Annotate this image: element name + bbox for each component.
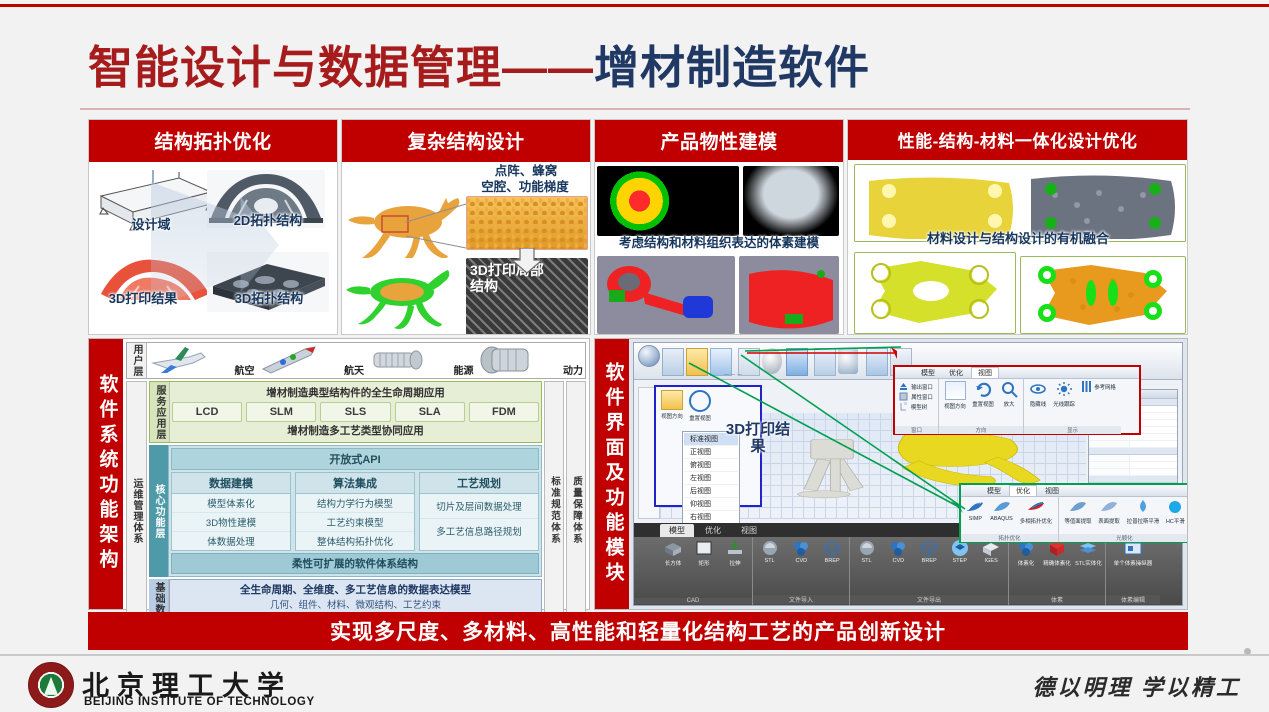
top-accent-rule — [0, 4, 1269, 7]
item-label: 表面提取 — [1098, 516, 1120, 524]
voxel-dragon-image — [597, 166, 739, 236]
tool-export-brep[interactable]: BREP — [916, 539, 942, 564]
tool-exact-voxelize[interactable]: 精确体素化 — [1044, 539, 1070, 567]
tool-label: BREP — [921, 558, 936, 564]
tool-label: BREP — [824, 558, 839, 564]
group-direction: 视图方向 重置视图 放大 方向 — [939, 379, 1024, 434]
reset-view-label: 重置视图 — [689, 413, 711, 421]
page-title-red: 智能设计与数据管理—— — [88, 31, 594, 96]
column-item: 体数据处理 — [172, 532, 290, 550]
group-topology-optimization: SIMP ABAQUS 多相拓扑优化 拓扑优化 — [961, 497, 1059, 542]
ribbon-icon[interactable] — [838, 348, 858, 374]
title-divider — [80, 108, 1190, 110]
tool-extrude[interactable]: 拉伸 — [722, 539, 748, 567]
ribbon-icon[interactable] — [814, 348, 836, 376]
item-label: 多相拓扑优化 — [1020, 516, 1052, 524]
tab-model[interactable]: 模型 — [660, 524, 694, 537]
tool-label: STEP — [953, 558, 967, 564]
panel-header: 产品物性建模 — [595, 120, 843, 162]
item-label: 放大 — [1004, 399, 1015, 407]
chip-fdm[interactable]: FDM — [469, 402, 539, 422]
panel-product-property-modeling: 产品物性建模 考虑结构和材料组织表达的体素建模 — [594, 119, 844, 335]
ribbon-group-label: 文件导入 — [753, 595, 849, 604]
flexible-architecture-bar: 柔性可扩展的软件体系结构 — [171, 553, 539, 574]
column-item: 切片及层间数据处理 — [420, 494, 538, 519]
tab-optimize[interactable]: 优化 — [696, 524, 730, 537]
group-label: 光顺化 — [1059, 534, 1187, 542]
item-multiphase-topology-optimization[interactable]: 多相拓扑优化 — [1018, 499, 1054, 525]
item-abaqus[interactable]: ABAQUS — [989, 499, 1014, 522]
service-top-title: 增材制造典型结构件的全生命周期应用 — [172, 384, 539, 402]
item-ray-tracing[interactable]: 光线跟踪 — [1052, 381, 1076, 408]
base-title: 全生命周期、全维度、多工艺信息的数据表达模型 — [172, 582, 539, 597]
item-simp[interactable]: SIMP — [965, 499, 985, 522]
user-item-label: 航空 — [235, 362, 255, 377]
item-label: 输出窗口 — [911, 382, 933, 390]
panel-body: 设计域 2D拓扑结构 — [89, 162, 337, 334]
tool-label: 拉伸 — [729, 558, 740, 566]
menu-item-bottom-view[interactable]: 仰视图 — [684, 498, 738, 511]
app-menu-orb[interactable] — [638, 345, 660, 367]
ribbon-group-voxel-edit: 单个体素操纵器 体素编辑 — [1106, 537, 1160, 605]
tool-label: 长方体 — [665, 558, 682, 566]
user-item-energy: 能源 — [366, 343, 476, 378]
column-item: 结构力学行为模型 — [296, 494, 414, 513]
user-item-power: 动力 — [476, 343, 586, 378]
lattice-zoom-image — [466, 196, 588, 250]
user-item-label: 动力 — [563, 362, 583, 377]
quality-system-label: 质量保障体系 — [566, 381, 586, 640]
multi-material-part-image — [597, 256, 735, 334]
item-model-tree[interactable]: 模型树 — [899, 402, 928, 411]
ribbon-group-file-export: STL CVD BREP — [850, 537, 1009, 605]
user-item-label: 能源 — [454, 362, 474, 377]
ribbon-group-voxel: 体素化 精确体素化 STL实体化 — [1009, 537, 1106, 605]
ribbon-icon-selected[interactable] — [686, 348, 708, 376]
group-label: 窗口 — [895, 426, 938, 434]
ribbon-group-label: 体素编辑 — [1106, 595, 1160, 604]
chip-sla[interactable]: SLA — [395, 402, 465, 422]
properties-section — [1089, 476, 1177, 483]
group-label: 显示 — [1024, 426, 1121, 434]
lower-section: 软件系统功能架构 用户层 航空 — [88, 338, 1188, 610]
feature-panels: 结构拓扑优化 — [88, 119, 1188, 335]
ribbon-group-label: 文件导出 — [850, 595, 1008, 604]
user-layer-label: 用户层 — [127, 343, 147, 378]
software-screenshot: — — — — [629, 339, 1187, 609]
tab-model[interactable]: 模型 — [915, 368, 941, 378]
property-row — [1089, 434, 1177, 441]
service-layer-label: 服务应用层 — [150, 382, 170, 442]
callout-body: SIMP ABAQUS 多相拓扑优化 拓扑优化 — [961, 497, 1187, 542]
architecture-panel: 软件系统功能架构 用户层 航空 — [88, 338, 590, 610]
tool-import-stl[interactable]: STL — [757, 539, 783, 564]
voxel-wing-image — [743, 166, 839, 236]
tool-single-voxel-manipulator[interactable]: 单个体素操纵器 — [1110, 539, 1156, 567]
item-property-window[interactable]: 属性窗口 — [899, 392, 934, 401]
caption-design-domain: 设计域 — [103, 218, 199, 233]
panel-body: 考虑结构和材料组织表达的体素建模 — [595, 162, 843, 334]
core-column-algorithm-integration: 算法集成 结构力学行为模型 工艺约束模型 整体结构拓扑优化 — [295, 472, 415, 551]
caption-voxel-modeling: 考虑结构和材料组织表达的体素建模 — [597, 236, 841, 250]
tab-view[interactable]: 视图 — [732, 524, 766, 537]
item-reset-view[interactable]: 重置视图 — [971, 381, 995, 408]
service-application-layer: 服务应用层 增材制造典型结构件的全生命周期应用 LCD SLM SLS SLA … — [149, 381, 542, 443]
optimize-tab-callout: 模型 优化 视图 SIMP ABAQUS — [959, 483, 1187, 543]
viewport-caption: 3D打印结果 — [725, 421, 791, 456]
callout-tabs: 模型 优化 视图 — [961, 485, 1187, 497]
item-label: 隐藏线 — [1030, 399, 1046, 407]
item-label: 属性窗口 — [911, 392, 933, 400]
view-direction-button[interactable]: 视图方向 — [660, 390, 684, 422]
property-row — [1089, 455, 1177, 462]
tool-import-brep[interactable]: BREP — [819, 539, 845, 564]
ribbon-icon[interactable] — [866, 348, 888, 376]
yellow-bracket-image — [854, 252, 1016, 334]
tool-label: CVD — [892, 558, 904, 564]
menu-item-top-view[interactable]: 俯视图 — [684, 459, 738, 472]
tool-export-stl[interactable]: STL — [854, 539, 880, 564]
tool-label: IGES — [984, 558, 997, 564]
tool-import-cvd[interactable]: CVD — [788, 539, 814, 564]
column-item: 工艺约束模型 — [296, 513, 414, 532]
item-label: 视图方向 — [944, 401, 966, 409]
item-label: 模型树 — [911, 402, 927, 410]
core-column-process-planning: 工艺规划 切片及层间数据处理 多工艺信息路径规划 — [419, 472, 539, 551]
group-smoothing: 等值面提取 表面提取 拉普拉斯平滑 — [1059, 497, 1187, 542]
item-label: HC平滑 — [1166, 516, 1185, 524]
item-label: 拉普拉斯平滑 — [1127, 516, 1159, 524]
tool-export-cvd[interactable]: CVD — [885, 539, 911, 564]
standard-system-label: 标准规范体系 — [544, 381, 564, 640]
software-ui-panel: 软件界面及功能模块 — — — — [594, 338, 1188, 610]
panel-topology-optimization: 结构拓扑优化 — [88, 119, 338, 335]
user-item-aviation: 航空 — [147, 343, 257, 378]
tool-stl-solidify[interactable]: STL实体化 — [1075, 539, 1101, 567]
property-row — [1089, 469, 1177, 476]
process-chip-row: LCD SLM SLS SLA FDM — [172, 402, 539, 422]
tab-model[interactable]: 模型 — [981, 486, 1007, 496]
tool-label: 矩形 — [698, 558, 709, 566]
item-label: 参考网格 — [1094, 382, 1116, 390]
ribbon-group-label: — — — — [724, 372, 742, 378]
core-columns: 数据建模 模型体素化 3D物性建模 体数据处理 算法集成 结构力学行为模型 工艺… — [171, 472, 539, 551]
column-header: 算法集成 — [296, 473, 414, 494]
tool-label: 体素化 — [1018, 558, 1035, 566]
software-side-label: 软件界面及功能模块 — [595, 339, 629, 609]
reset-view-button[interactable]: 重置视图 — [688, 390, 712, 422]
view-direction-label: 视图方向 — [661, 411, 683, 419]
ribbon-group-label: 体素 — [1009, 595, 1105, 604]
bottom-banner: 实现多尺度、多材料、高性能和轻量化结构工艺的产品创新设计 — [88, 612, 1188, 650]
ribbon-icon[interactable] — [762, 348, 782, 374]
item-label: 等值面提取 — [1065, 516, 1092, 524]
core-layer-label: 核心功能层 — [149, 445, 168, 577]
slide-footer: 北京理工大学 BEIJING INSTITUTE OF TECHNOLOGY 德… — [0, 656, 1269, 712]
caption-lattice-honeycomb: 点阵、蜂窝 — [466, 164, 586, 178]
chip-sls[interactable]: SLS — [320, 402, 390, 422]
column-item: 模型体素化 — [172, 494, 290, 513]
property-row — [1089, 441, 1177, 448]
item-view-direction[interactable]: 视图方向 — [943, 381, 967, 410]
tool-label: 精确体素化 — [1043, 558, 1071, 566]
base-subtitle: 几何、组件、材料、微观结构、工艺约束 — [172, 597, 539, 613]
view-tab-callout: 模型 优化 视图 输出窗口 属性窗口 — [893, 365, 1141, 435]
service-layer-body: 增材制造典型结构件的全生命周期应用 LCD SLM SLS SLA FDM 增材… — [170, 382, 541, 442]
user-item-aerospace: 航天 — [257, 343, 367, 378]
ribbon-group-label: CAD — [634, 598, 752, 604]
tab-optimize[interactable]: 优化 — [1009, 485, 1037, 496]
item-label: 光线跟踪 — [1053, 399, 1075, 407]
panel-header: 结构拓扑优化 — [89, 120, 337, 162]
caption-cavity-gradient: 空腔、功能梯度 — [460, 180, 590, 194]
caption-material-structure-fusion: 材料设计与结构设计的有机融合 — [868, 232, 1168, 247]
tab-optimize[interactable]: 优化 — [943, 368, 969, 378]
core-column-data-modeling: 数据建模 模型体素化 3D物性建模 体数据处理 — [171, 472, 291, 551]
tab-view[interactable]: 视图 — [1039, 486, 1065, 496]
user-item-label: 航天 — [344, 362, 364, 377]
properties-section — [1089, 448, 1177, 455]
chip-lcd[interactable]: LCD — [172, 402, 242, 422]
page-title-navy: 增材制造软件 — [594, 31, 870, 96]
group-window: 输出窗口 属性窗口 模型树 窗口 — [895, 379, 939, 434]
item-hidden-line[interactable]: 隐藏线 — [1028, 381, 1048, 408]
university-logo — [28, 662, 74, 708]
tool-label: CVD — [795, 558, 807, 564]
item-zoom-in[interactable]: 放大 — [999, 381, 1019, 408]
tool-rectangle[interactable]: 矩形 — [691, 539, 717, 567]
column-header: 工艺规划 — [420, 473, 538, 494]
column-item: 多工艺信息路径规划 — [420, 519, 538, 543]
item-output-window[interactable]: 输出窗口 — [899, 382, 934, 391]
column-item: 3D物性建模 — [172, 513, 290, 532]
ribbon-icon[interactable] — [662, 348, 684, 376]
panel-integrated-design-optimization: 性能-结构-材料一体化设计优化 材料设计与结构设计的有机融合 — [847, 119, 1188, 335]
ribbon-group-file-import: STL CVD BREP — [753, 537, 850, 605]
group-display: 隐藏线 光线跟踪 参考网格 显示 — [1024, 379, 1121, 434]
item-label: ABAQUS — [990, 516, 1013, 521]
group-label: 拓扑优化 — [961, 534, 1058, 542]
item-label: 重置视图 — [972, 399, 994, 407]
callout-body: 输出窗口 属性窗口 模型树 窗口 — [895, 379, 1139, 434]
caption-2d-topology: 2D拓扑结构 — [227, 214, 309, 229]
callout-tabs: 模型 优化 视图 — [895, 367, 1139, 379]
architecture-side-label: 软件系统功能架构 — [89, 339, 123, 609]
panel-header: 复杂结构设计 — [342, 120, 590, 162]
panel-complex-structure-design: 复杂结构设计 — [341, 119, 591, 335]
item-label: SIMP — [968, 516, 981, 521]
ribbon-icon[interactable] — [786, 348, 808, 376]
green-horse-image — [344, 258, 466, 334]
property-row — [1089, 462, 1177, 469]
page-title: 智能设计与数据管理——增材制造软件 — [88, 32, 1188, 94]
architecture-body: 用户层 航空 — [123, 339, 589, 609]
slide-root: 智能设计与数据管理——增材制造软件 结构拓扑优化 — [0, 0, 1269, 712]
item-hc-smoothing[interactable]: HC平滑 — [1165, 499, 1186, 525]
service-bottom-title: 增材制造多工艺类型协同应用 — [172, 422, 539, 440]
tab-view[interactable]: 视图 — [971, 367, 999, 378]
item-isosurface-extraction[interactable]: 等值面提取 — [1063, 499, 1093, 525]
ribbon-group-cad: 长方体 矩形 拉伸 — [634, 537, 753, 605]
item-laplacian-smoothing[interactable]: 拉普拉斯平滑 — [1125, 499, 1161, 525]
caption-3d-print-result: 3D打印结果 — [97, 292, 189, 307]
multi-material-zoom-image — [739, 256, 839, 334]
menu-item-left-view[interactable]: 左视图 — [684, 472, 738, 485]
orange-lattice-bracket-image — [1020, 256, 1186, 334]
chip-slm[interactable]: SLM — [246, 402, 316, 422]
university-motto: 德以明理 学以精工 — [1032, 670, 1241, 702]
tool-box[interactable]: 长方体 — [660, 539, 686, 567]
panel-body: 点阵、蜂窝 空腔、功能梯度 — [342, 162, 590, 334]
caption-3d-topology: 3D拓扑结构 — [227, 292, 311, 307]
item-surface-extraction[interactable]: 表面提取 — [1097, 499, 1121, 525]
panel-body: 材料设计与结构设计的有机融合 — [848, 160, 1187, 334]
open-api-bar: 开放式API — [171, 448, 539, 470]
menu-item-back-view[interactable]: 后视图 — [684, 485, 738, 498]
university-name-en: BEIJING INSTITUTE OF TECHNOLOGY — [84, 696, 315, 708]
panel-header: 性能-结构-材料一体化设计优化 — [848, 120, 1187, 160]
tool-voxelize[interactable]: 体素化 — [1013, 539, 1039, 567]
tool-label: STL — [765, 558, 775, 564]
tool-label: STL — [862, 558, 872, 564]
caption-printed-local-structure: 3D打印局部结构 — [470, 262, 544, 294]
bottom-ribbon-body: 长方体 矩形 拉伸 — [634, 537, 1182, 605]
item-reference-grid[interactable]: 参考网格 — [1082, 381, 1117, 392]
column-item: 整体结构拓扑优化 — [296, 532, 414, 550]
ops-system-label: 运维管理体系 — [126, 381, 147, 640]
user-layer: 用户层 航空 — [126, 342, 586, 379]
group-label: 方向 — [939, 426, 1023, 434]
column-header: 数据建模 — [172, 473, 290, 494]
tool-label: STL实体化 — [1075, 558, 1102, 566]
user-layer-items: 航空 航天 — [147, 343, 585, 378]
core-function-layer: 核心功能层 开放式API 数据建模 模型体素化 3D物性建模 体数据处理 — [149, 445, 542, 577]
tool-label: 单个体素操纵器 — [1114, 558, 1153, 566]
core-layer-body: 开放式API 数据建模 模型体素化 3D物性建模 体数据处理 — [168, 445, 542, 577]
